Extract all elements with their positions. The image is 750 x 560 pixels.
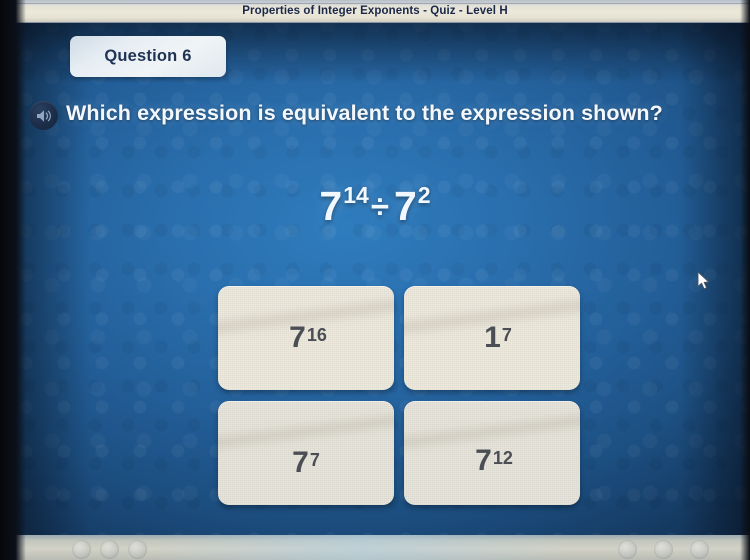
answer-choice-a-base: 7 <box>289 321 306 355</box>
answer-choice-row: 77 712 <box>218 401 580 505</box>
dock-circle-icon[interactable] <box>618 540 637 559</box>
answer-choice-c-label: 77 <box>218 411 394 505</box>
dock-circle-icon[interactable] <box>100 540 119 559</box>
question-expression: 714÷72 <box>0 183 750 230</box>
question-number-label: Question 6 <box>104 47 191 66</box>
expression-right-base: 7 <box>394 183 417 229</box>
answer-choice-a-label: 716 <box>220 286 394 390</box>
quiz-stage: Question 6 Which expression is equivalen… <box>0 23 750 535</box>
screen-capture: Properties of Integer Exponents - Quiz -… <box>0 0 750 560</box>
answer-choice-row: 716 17 <box>218 286 580 390</box>
answer-choice-grid: 716 17 77 712 <box>218 286 580 516</box>
expression-operator: ÷ <box>371 188 389 225</box>
expression-left-base: 7 <box>319 183 342 229</box>
expression-right-exponent: 2 <box>418 182 431 208</box>
answer-choice-a[interactable]: 716 <box>218 286 394 390</box>
answer-choice-c-base: 7 <box>292 446 309 480</box>
answer-choice-d-base: 7 <box>475 444 492 478</box>
answer-choice-b-base: 1 <box>484 321 501 355</box>
dock-circle-icon[interactable] <box>654 540 673 559</box>
question-prompt: Which expression is equivalent to the ex… <box>66 101 736 126</box>
dock-sheen <box>150 535 570 560</box>
answer-choice-c[interactable]: 77 <box>218 401 394 505</box>
dock-circle-icon[interactable] <box>72 540 91 559</box>
answer-choice-b[interactable]: 17 <box>404 286 580 390</box>
dock-circle-icon[interactable] <box>690 540 709 559</box>
answer-choice-c-exponent: 7 <box>310 450 320 471</box>
speaker-icon[interactable] <box>29 101 58 130</box>
answer-choice-b-exponent: 7 <box>502 325 512 346</box>
title-bar-hairline <box>0 3 750 4</box>
window-title-bar: Properties of Integer Exponents - Quiz -… <box>0 0 750 23</box>
answer-choice-a-exponent: 16 <box>307 325 327 346</box>
expression-left-exponent: 14 <box>343 182 369 208</box>
answer-choice-d-exponent: 12 <box>493 448 513 469</box>
question-number-badge: Question 6 <box>70 36 226 77</box>
taskbar-dock[interactable] <box>0 535 750 560</box>
answer-choice-d[interactable]: 712 <box>404 401 580 505</box>
answer-choice-b-label: 17 <box>410 286 580 390</box>
dock-circle-icon[interactable] <box>128 540 147 559</box>
answer-choice-d-label: 712 <box>406 409 580 505</box>
window-title: Properties of Integer Exponents - Quiz -… <box>0 5 750 17</box>
